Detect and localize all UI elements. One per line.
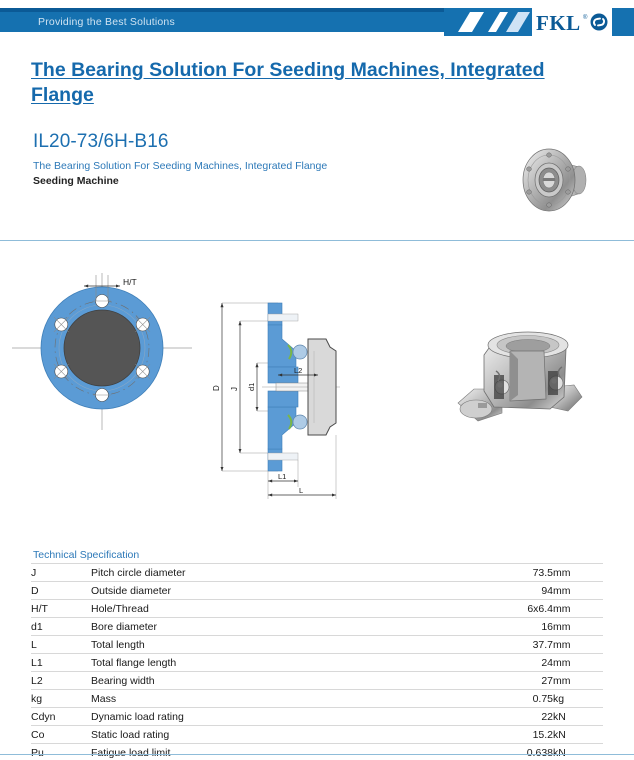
spec-description: Total length bbox=[91, 636, 481, 654]
spec-symbol: L2 bbox=[31, 672, 91, 690]
front-view-drawing: H/T bbox=[12, 273, 192, 430]
table-row: H/T Hole/Thread 6x6.4 mm bbox=[31, 600, 603, 618]
spec-value: 37.7 bbox=[481, 636, 553, 654]
spec-description: Dynamic load rating bbox=[91, 708, 481, 726]
spec-value: 0.75 bbox=[481, 690, 553, 708]
spec-unit: mm bbox=[553, 636, 603, 654]
logo-wordmark: FKL bbox=[536, 11, 581, 35]
spec-description: Static load rating bbox=[91, 726, 481, 744]
spec-symbol: Co bbox=[31, 726, 91, 744]
dimension-label-l1: L1 bbox=[278, 472, 286, 481]
spec-description: Total flange length bbox=[91, 654, 481, 672]
spec-symbol: H/T bbox=[31, 600, 91, 618]
section-divider-top bbox=[0, 240, 634, 241]
table-row: Cdyn Dynamic load rating 22 kN bbox=[31, 708, 603, 726]
spec-description: Bearing width bbox=[91, 672, 481, 690]
table-row: J Pitch circle diameter 73.5 mm bbox=[31, 564, 603, 582]
spec-unit: mm bbox=[553, 654, 603, 672]
spec-value: 22 bbox=[481, 708, 553, 726]
spec-value: 15.2 bbox=[481, 726, 553, 744]
product-thumbnail-render bbox=[505, 133, 603, 225]
table-row: L1 Total flange length 24 mm bbox=[31, 654, 603, 672]
dimension-label-j: J bbox=[230, 387, 239, 391]
spec-table-body: J Pitch circle diameter 73.5 mm D Outsid… bbox=[31, 564, 603, 760]
spec-symbol: L bbox=[31, 636, 91, 654]
spec-symbol: Cdyn bbox=[31, 708, 91, 726]
spec-symbol: d1 bbox=[31, 618, 91, 636]
section-divider-bottom bbox=[0, 754, 634, 755]
logo-link-icon bbox=[591, 14, 608, 31]
spec-symbol: L1 bbox=[31, 654, 91, 672]
cutaway-render bbox=[458, 332, 582, 421]
spec-unit: kN bbox=[553, 744, 603, 760]
spec-unit: kN bbox=[553, 708, 603, 726]
spec-symbol: Pu bbox=[31, 744, 91, 760]
table-row: L2 Bearing width 27 mm bbox=[31, 672, 603, 690]
spec-symbol: J bbox=[31, 564, 91, 582]
spec-value: 6x6.4 bbox=[481, 600, 553, 618]
technical-drawings: H/T D J d1 bbox=[0, 255, 634, 515]
page-title: The Bearing Solution For Seeding Machine… bbox=[31, 58, 551, 108]
table-row: Pu Fatigue load limit 0.638 kN bbox=[31, 744, 603, 760]
spec-description: Hole/Thread bbox=[91, 600, 481, 618]
spec-value: 94 bbox=[481, 582, 553, 600]
spec-symbol: D bbox=[31, 582, 91, 600]
spec-value: 16 bbox=[481, 618, 553, 636]
product-code: IL20-73/6H-B16 bbox=[33, 131, 169, 153]
spec-unit: mm bbox=[553, 600, 603, 618]
spec-unit: kN bbox=[553, 726, 603, 744]
spec-unit: mm bbox=[553, 672, 603, 690]
dimension-label-d: D bbox=[212, 385, 221, 391]
table-row: d1 Bore diameter 16 mm bbox=[31, 618, 603, 636]
spec-description: Mass bbox=[91, 690, 481, 708]
spec-unit: mm bbox=[553, 582, 603, 600]
spec-description: Bore diameter bbox=[91, 618, 481, 636]
table-row: L Total length 37.7 mm bbox=[31, 636, 603, 654]
spec-value: 24 bbox=[481, 654, 553, 672]
dimension-label-l: L bbox=[299, 486, 303, 495]
table-row: kg Mass 0.75 kg bbox=[31, 690, 603, 708]
spec-description: Pitch circle diameter bbox=[91, 564, 481, 582]
header-tagline: Providing the Best Solutions bbox=[38, 13, 175, 31]
dimension-label-ht: H/T bbox=[123, 277, 137, 287]
datasheet-page: Providing the Best Solutions FKL ® The B… bbox=[0, 0, 634, 760]
fkl-logo[interactable]: FKL ® bbox=[444, 8, 634, 36]
spec-description: Fatigue load limit bbox=[91, 744, 481, 760]
spec-value: 27 bbox=[481, 672, 553, 690]
table-row: Co Static load rating 15.2 kN bbox=[31, 726, 603, 744]
dimension-label-d1: d1 bbox=[247, 383, 256, 391]
registered-trademark-icon: ® bbox=[583, 14, 588, 21]
cross-section-drawing: D J d1 bbox=[212, 303, 340, 499]
spec-description: Outside diameter bbox=[91, 582, 481, 600]
spec-heading: Technical Specification bbox=[33, 549, 139, 561]
spec-value: 73.5 bbox=[481, 564, 553, 582]
table-row: D Outside diameter 94 mm bbox=[31, 582, 603, 600]
product-category: Seeding Machine bbox=[33, 175, 119, 187]
dimension-label-l2: L2 bbox=[294, 366, 302, 375]
spec-table: J Pitch circle diameter 73.5 mm D Outsid… bbox=[31, 563, 603, 760]
spec-unit: mm bbox=[553, 564, 603, 582]
spec-unit: kg bbox=[553, 690, 603, 708]
spec-symbol: kg bbox=[31, 690, 91, 708]
product-subtitle: The Bearing Solution For Seeding Machine… bbox=[33, 160, 327, 172]
spec-unit: mm bbox=[553, 618, 603, 636]
spec-value: 0.638 bbox=[481, 744, 553, 760]
